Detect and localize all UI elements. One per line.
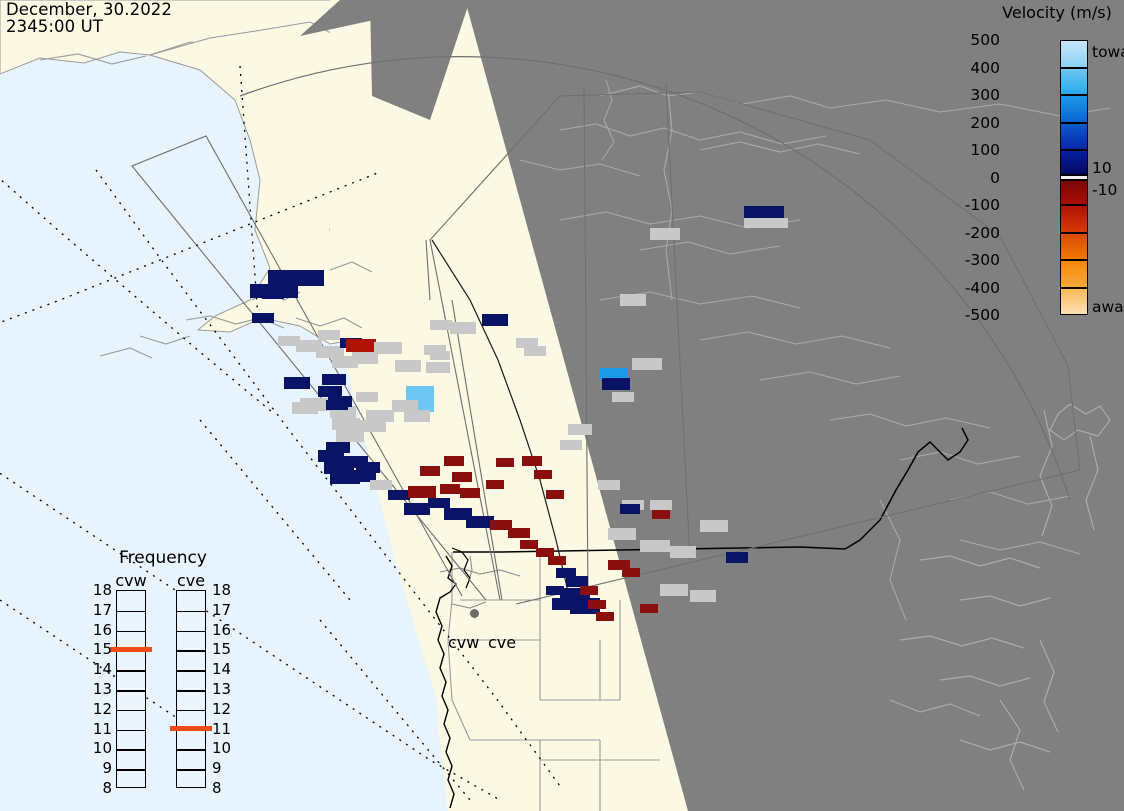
colorbar-side-labels: toward10-10away — [1092, 40, 1124, 315]
frequency-gridline — [117, 690, 145, 692]
colorbar-pos-threshold-label: 10 — [1092, 159, 1112, 177]
ground-scatter-cell — [700, 520, 728, 532]
velocity-cell — [482, 314, 508, 326]
frequency-scale-label-right: 9 — [212, 759, 222, 777]
colorbar-tick: 0 — [990, 169, 1000, 187]
ground-scatter-cell — [430, 351, 450, 360]
velocity-cell — [620, 504, 640, 514]
site-label-cvw: cvw — [448, 633, 479, 652]
frequency-gridline — [177, 749, 205, 751]
colorbar-tick: 200 — [970, 114, 1000, 132]
site-label-cve: cve — [488, 633, 516, 652]
colorbar-tick-labels: 5004003002001000-100-200-300-400-500 — [956, 40, 1056, 315]
colorbar-zero-gap — [1060, 175, 1088, 181]
velocity-cell — [522, 456, 542, 466]
frequency-scale-label-right: 10 — [212, 739, 231, 757]
ground-scatter-cell — [650, 228, 680, 240]
colorbar-tick: 500 — [970, 31, 1000, 49]
frequency-scale-label-right: 17 — [212, 601, 231, 619]
colorbar-tick: 300 — [970, 86, 1000, 104]
ground-scatter-cell — [430, 320, 452, 330]
colorbar-segment — [1060, 233, 1088, 261]
velocity-cell — [534, 470, 552, 479]
colorbar-away-label: away — [1092, 298, 1124, 316]
velocity-cell — [602, 378, 630, 390]
ground-scatter-cell — [660, 584, 688, 596]
velocity-cell — [440, 484, 460, 494]
velocity-cell — [284, 377, 310, 389]
frequency-gridline — [117, 730, 145, 732]
colorbar-segment — [1060, 150, 1088, 175]
velocity-cell — [548, 556, 566, 565]
frequency-bar-cve — [176, 590, 206, 788]
colorbar-tick: -500 — [965, 306, 1000, 324]
velocity-cell — [552, 598, 576, 610]
frequency-scale-label-right: 8 — [212, 779, 222, 797]
ground-scatter-cell — [608, 528, 636, 540]
ground-scatter-cell — [426, 362, 450, 373]
ground-scatter-cell — [640, 540, 670, 552]
velocity-cell — [622, 568, 640, 577]
frequency-gridline — [177, 769, 205, 771]
colorbar-segment — [1060, 68, 1088, 96]
colorbar-tick: -400 — [965, 279, 1000, 297]
ground-scatter-cell — [450, 322, 476, 334]
ground-scatter-cell — [632, 358, 662, 370]
frequency-gridline — [177, 670, 205, 672]
colorbar-tick: 400 — [970, 59, 1000, 77]
frequency-scale-label-left: 9 — [90, 759, 112, 777]
velocity-cell — [444, 456, 464, 466]
frequency-legend-title: Frequency — [88, 548, 238, 568]
colorbar-segment — [1060, 288, 1088, 316]
frequency-gridline — [177, 611, 205, 613]
velocity-cell — [588, 600, 606, 609]
colorbar-tick: 100 — [970, 141, 1000, 159]
velocity-cell — [566, 576, 588, 587]
frequency-scale-label-left: 8 — [90, 779, 112, 797]
ground-scatter-cell — [560, 440, 582, 450]
velocity-cell — [388, 490, 410, 500]
velocity-cell — [546, 586, 564, 595]
frequency-scale-label-right: 11 — [212, 720, 231, 738]
ground-scatter-cell — [524, 346, 546, 356]
ground-scatter-cell — [358, 420, 386, 432]
velocity-cell — [328, 396, 352, 407]
velocity-cell — [318, 386, 342, 397]
velocity-cell — [652, 510, 670, 519]
frequency-marker-cve — [170, 726, 212, 731]
ground-scatter-cell — [370, 480, 392, 490]
velocity-cell — [596, 612, 614, 621]
velocity-cell — [486, 480, 504, 489]
frequency-gridline — [117, 749, 145, 751]
radar-site-marker — [470, 609, 479, 618]
frequency-gridline — [177, 650, 205, 652]
velocity-cell — [496, 458, 514, 467]
ground-scatter-cell — [356, 392, 378, 402]
frequency-scale-label-left: 16 — [90, 621, 112, 639]
velocity-cell — [268, 270, 324, 286]
velocity-cell — [726, 552, 748, 563]
velocity-cell — [252, 313, 274, 323]
colorbar-toward-label: toward — [1092, 43, 1124, 61]
time-label: 2345:00 UT — [6, 18, 172, 35]
frequency-scale-label-left: 18 — [90, 581, 112, 599]
frequency-scale-label-left: 12 — [90, 700, 112, 718]
frequency-scale-label-right: 15 — [212, 640, 231, 658]
velocity-cell — [452, 472, 472, 482]
velocity-cell — [428, 498, 450, 508]
frequency-scale-label-right: 16 — [212, 621, 231, 639]
frequency-scale-label-right: 18 — [212, 581, 231, 599]
date-label: December, 30.2022 — [6, 1, 172, 18]
frequency-marker-cvw — [110, 647, 152, 652]
ground-scatter-cell — [598, 480, 620, 490]
superdarn-map-view: { "title": { "date": "December, 30.2022"… — [0, 0, 1124, 811]
ground-scatter-cell — [612, 392, 634, 402]
frequency-scale-label-right: 14 — [212, 660, 231, 678]
ground-scatter-cell — [690, 590, 716, 602]
frequency-scale-label-left: 13 — [90, 680, 112, 698]
colorbar-segment — [1060, 260, 1088, 288]
velocity-cell — [466, 516, 494, 528]
velocity-cell — [404, 503, 430, 515]
frequency-scale-label-left: 10 — [90, 739, 112, 757]
velocity-cell — [508, 528, 530, 538]
ground-scatter-cell — [374, 342, 402, 354]
frequency-scale-label-left: 17 — [90, 601, 112, 619]
ground-scatter-cell — [744, 218, 788, 228]
velocity-cell — [640, 604, 658, 613]
colorbar-segment — [1060, 205, 1088, 233]
frequency-gridline — [177, 710, 205, 712]
ground-scatter-cell — [332, 418, 360, 430]
ground-scatter-cell — [318, 330, 340, 340]
frequency-gridline — [117, 710, 145, 712]
velocity-cell — [546, 490, 564, 499]
velocity-cell — [460, 488, 480, 498]
frequency-gridline — [117, 670, 145, 672]
colorbar-tick: -200 — [965, 224, 1000, 242]
colorbar-segment — [1060, 40, 1088, 68]
frequency-scale-label-left: 14 — [90, 660, 112, 678]
ground-scatter-cell — [292, 402, 318, 414]
velocity-cell — [580, 586, 598, 595]
ground-scatter-cell — [620, 294, 646, 306]
frequency-scale-label-left: 11 — [90, 720, 112, 738]
frequency-scale-label-right: 12 — [212, 700, 231, 718]
frequency-column-header-cvw: cvw — [104, 571, 158, 590]
frequency-column-header-cve: cve — [164, 571, 218, 590]
velocity-cell — [250, 284, 298, 298]
ground-scatter-cell — [670, 546, 696, 558]
colorbar-segment — [1060, 180, 1088, 205]
timestamp-block: December, 30.2022 2345:00 UT — [6, 1, 172, 35]
frequency-gridline — [117, 769, 145, 771]
ground-scatter-cell — [395, 360, 421, 372]
frequency-scale-label-left: 15 — [90, 640, 112, 658]
colorbar-segment — [1060, 123, 1088, 151]
frequency-scale-label-right: 13 — [212, 680, 231, 698]
ground-scatter-cell — [568, 424, 592, 435]
colorbar-title: Velocity (m/s) — [982, 3, 1124, 22]
velocity-cell — [520, 540, 538, 549]
frequency-gridline — [177, 690, 205, 692]
velocity-cell — [346, 339, 376, 352]
velocity-cell — [322, 374, 346, 385]
colorbar-gradient — [1060, 40, 1088, 315]
frequency-gridline — [117, 631, 145, 633]
ground-scatter-cell — [404, 410, 430, 422]
colorbar-neg-threshold-label: -10 — [1092, 181, 1117, 199]
colorbar-tick: -100 — [965, 196, 1000, 214]
velocity-colorbar: Velocity (m/s) 5004003002001000-100-200-… — [1008, 0, 1124, 330]
frequency-gridline — [177, 631, 205, 633]
frequency-legend: Frequency cvwcve181817171616151514141313… — [88, 548, 238, 788]
frequency-gridline — [117, 611, 145, 613]
ground-scatter-cell — [650, 500, 672, 510]
velocity-cell — [744, 206, 784, 218]
colorbar-segment — [1060, 95, 1088, 123]
velocity-cell — [408, 486, 436, 498]
velocity-cell — [420, 466, 440, 476]
velocity-cell — [536, 548, 554, 557]
frequency-bar-cvw — [116, 590, 146, 788]
colorbar-tick: -300 — [965, 251, 1000, 269]
